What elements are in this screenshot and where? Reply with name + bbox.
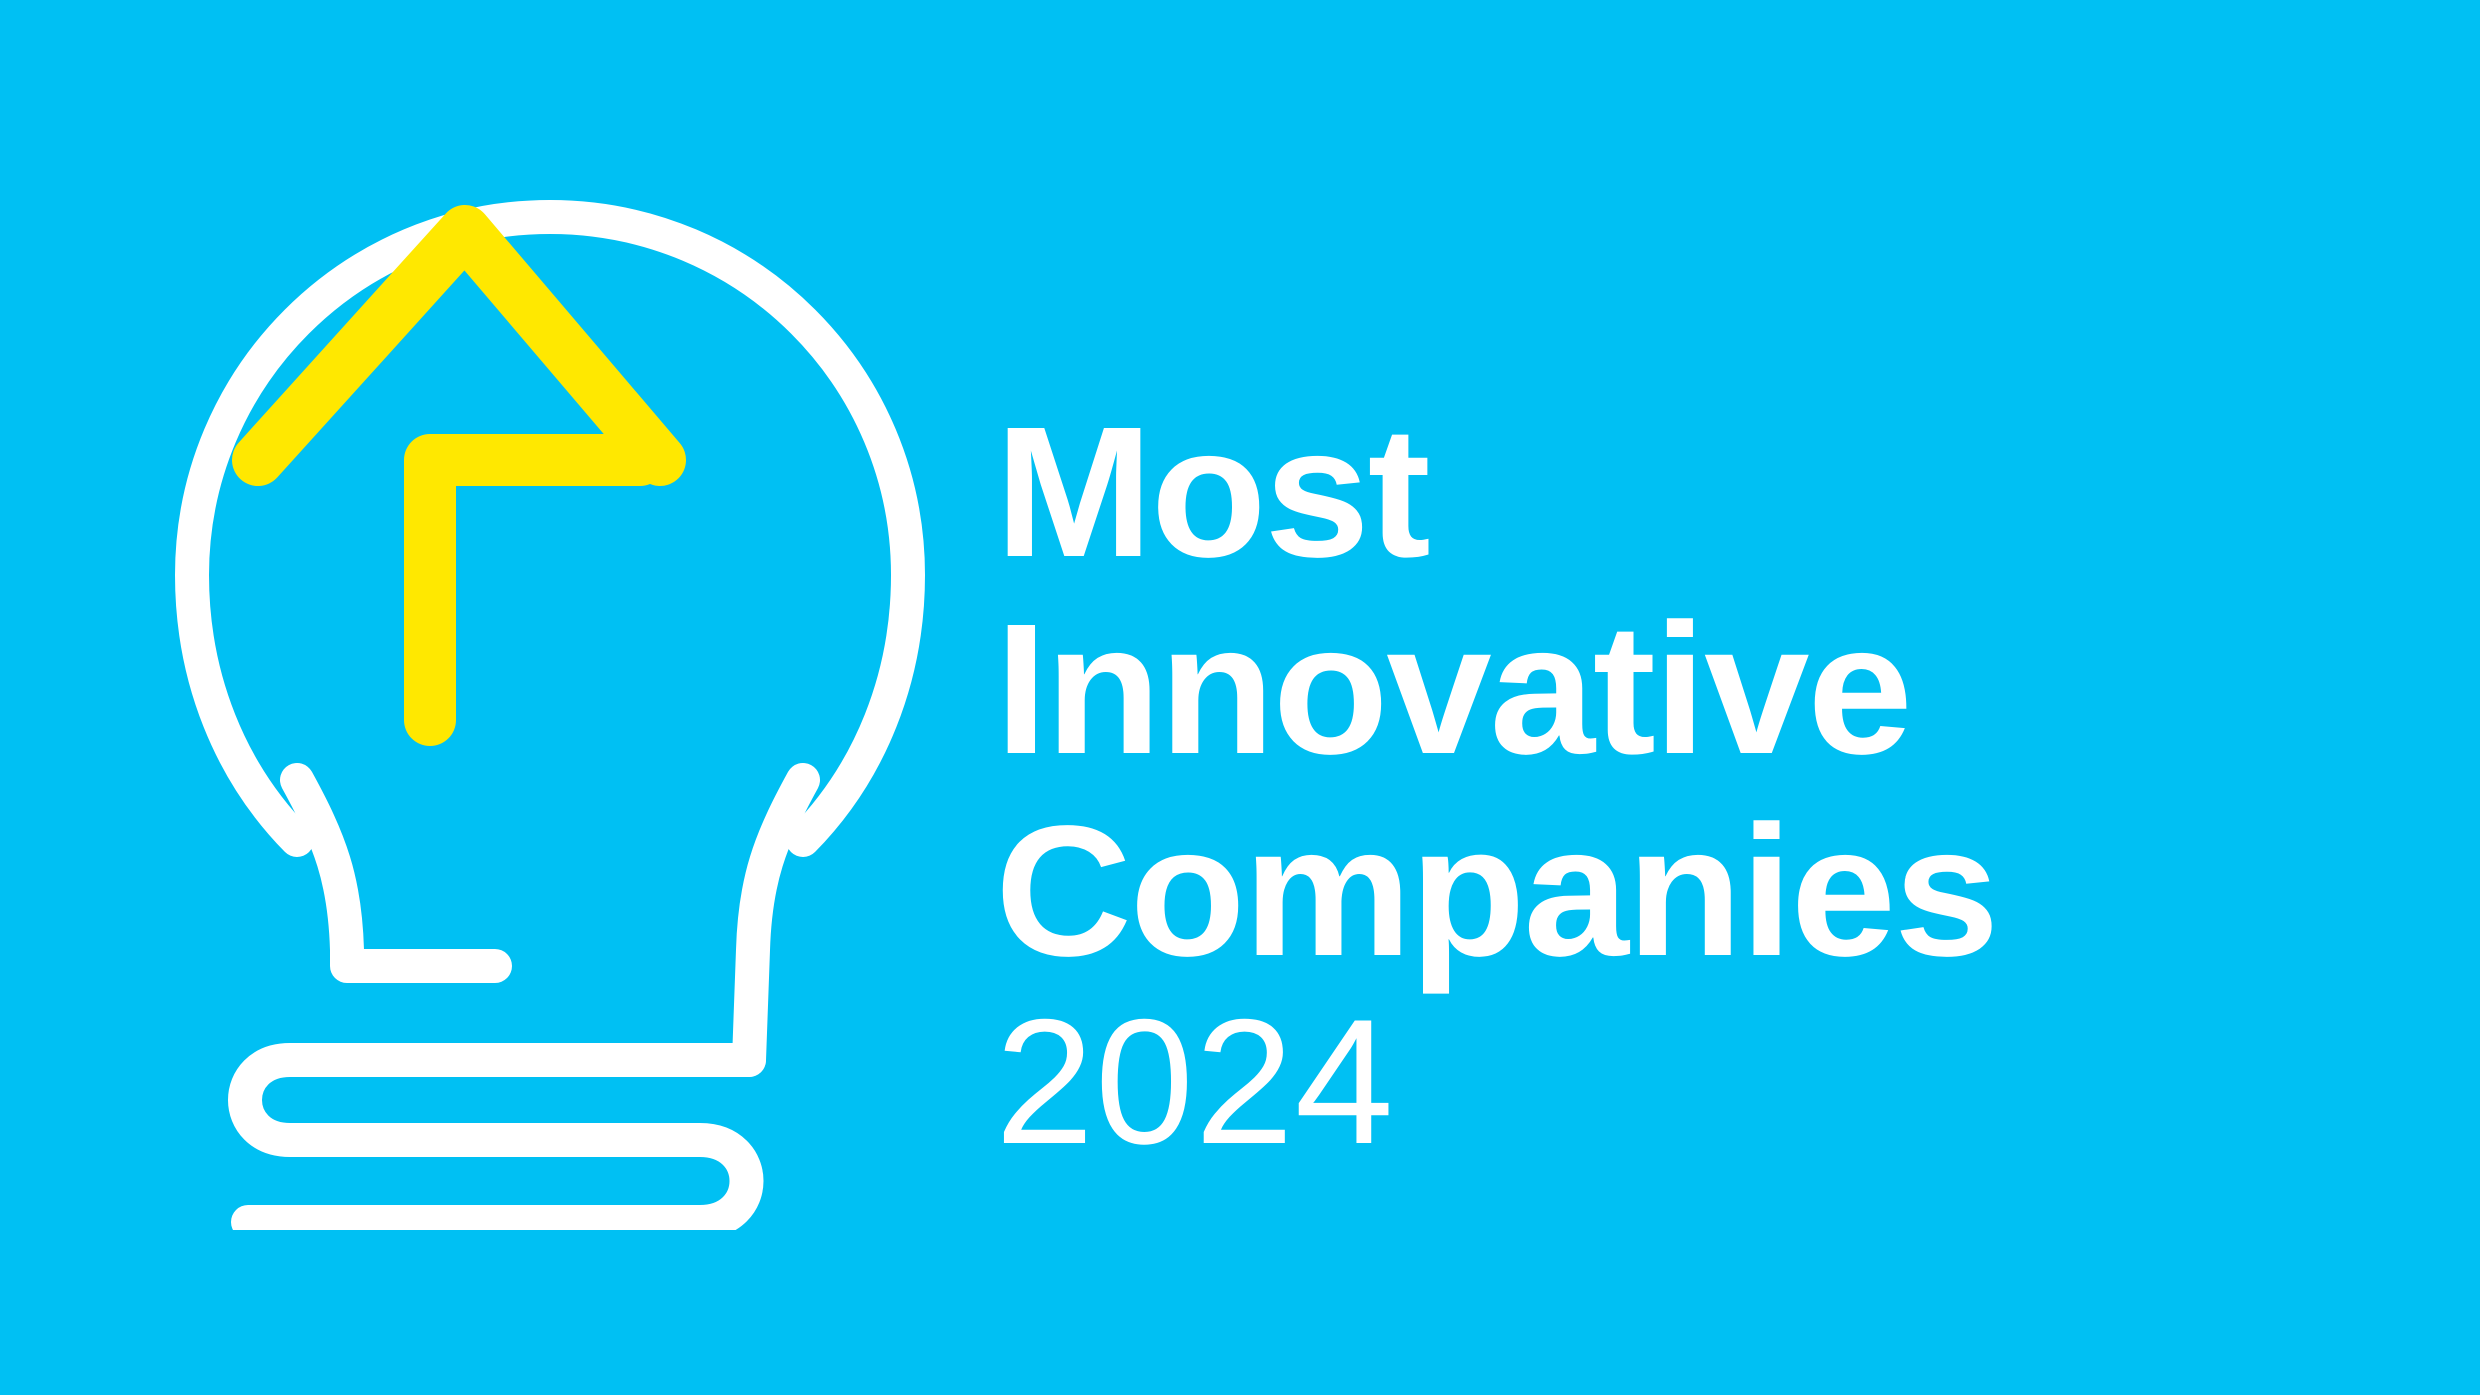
badge-canvas: Most Innovative Companies 2024 [0, 0, 2480, 1395]
lightbulb-with-up-arrow-icon [140, 100, 960, 1230]
wordmark-line-companies: Companies [995, 790, 2423, 995]
wordmark-year: 2024 [995, 988, 2395, 1177]
bulb-base-icon [245, 780, 803, 1222]
wordmark-line-most: Most [995, 398, 2423, 588]
logo-svg [140, 100, 960, 1230]
wordmark: Most Innovative Companies 2024 [995, 398, 2395, 1177]
wordmark-line-innovative: Innovative [995, 584, 2423, 796]
